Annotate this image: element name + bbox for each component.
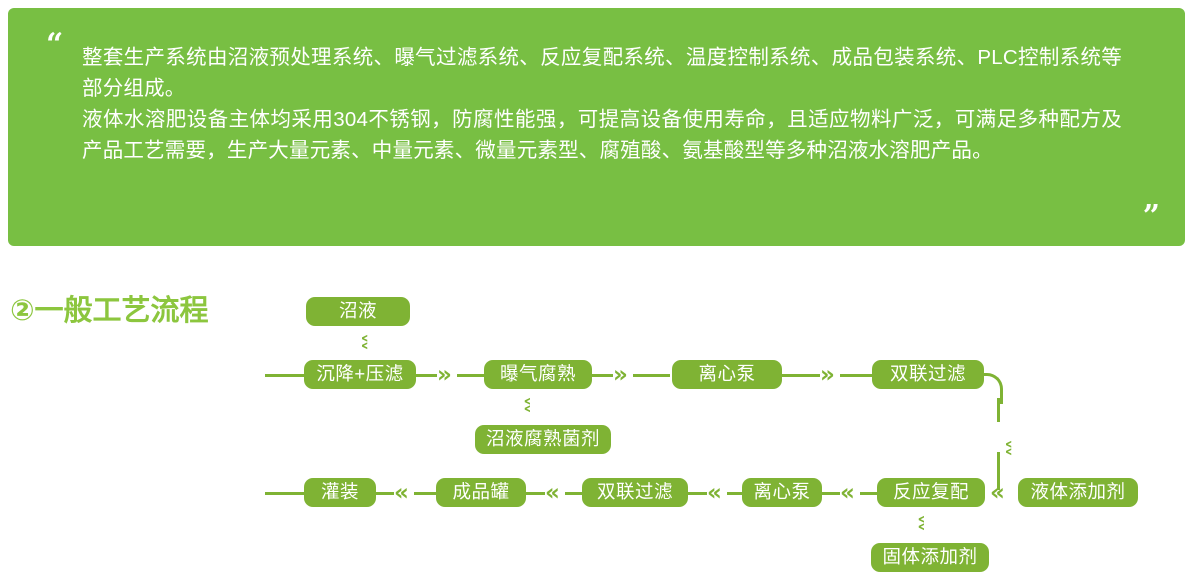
flow-line-r1-d <box>633 374 670 377</box>
flow-line-r2-c <box>526 492 545 495</box>
arrow-down-icon-slurry: ˅˅ <box>346 333 367 348</box>
flow-node-reaction-compounding[interactable]: 反应复配 <box>877 478 985 507</box>
arrow-down-icon-to-row2: ˅˅ <box>990 439 1011 454</box>
flow-node-centrifugal-pump-1[interactable]: 离心泵 <box>672 360 782 389</box>
flow-node-finished-tank[interactable]: 成品罐 <box>436 478 526 507</box>
arrow-right-icon-1: » <box>437 364 452 387</box>
process-flow-diagram: 沼液 ˅˅ 沉降+压滤 » 曝气腐熟 » 离心泵 » 双联过滤 ˄˄ 沼液腐熟菌… <box>0 0 1193 588</box>
flow-node-aeration-maturation[interactable]: 曝气腐熟 <box>484 360 592 389</box>
flow-line-r2-f <box>727 492 742 495</box>
flow-node-liquid-additive[interactable]: 液体添加剂 <box>1018 478 1138 507</box>
flow-node-solid-additive[interactable]: 固体添加剂 <box>871 543 989 572</box>
flow-node-duplex-filter-2[interactable]: 双联过滤 <box>582 478 688 507</box>
flow-node-slurry-maturation-agent[interactable]: 沼液腐熟菌剂 <box>475 425 611 454</box>
flow-node-settle-press[interactable]: 沉降+压滤 <box>304 360 416 389</box>
flow-node-centrifugal-pump-2[interactable]: 离心泵 <box>742 478 822 507</box>
flow-line-r1-c <box>592 374 613 377</box>
arrow-up-icon-maturation-agent: ˄˄ <box>525 399 546 414</box>
arrow-left-icon-3: « <box>707 482 722 505</box>
arrow-right-icon-3: » <box>820 364 835 387</box>
flow-node-filling[interactable]: 灌装 <box>304 478 376 507</box>
arrow-left-icon-2: « <box>545 482 560 505</box>
flow-node-biogas-slurry[interactable]: 沼液 <box>306 297 410 326</box>
flow-line-r1-f <box>840 374 872 377</box>
flow-line-vertical-upper <box>997 398 1000 422</box>
flow-line-r1-e <box>782 374 820 377</box>
arrow-right-icon-2: » <box>613 364 628 387</box>
flow-line-r2-h <box>860 492 877 495</box>
flow-line-row2-lead <box>265 492 304 495</box>
flow-line-r2-g <box>822 492 840 495</box>
flow-connector-corner <box>984 373 1003 404</box>
flow-line-r1-b <box>457 374 484 377</box>
arrow-left-icon-1: « <box>394 482 409 505</box>
flow-line-r2-a <box>376 492 394 495</box>
flow-line-row1-lead <box>265 374 308 377</box>
arrow-left-icon-5: « <box>990 482 1005 505</box>
arrow-left-icon-4: « <box>840 482 855 505</box>
flow-line-r2-d <box>565 492 582 495</box>
flow-line-r2-e <box>688 492 707 495</box>
flow-line-r1-a <box>416 374 437 377</box>
flow-node-duplex-filter-1[interactable]: 双联过滤 <box>872 360 984 389</box>
arrow-up-icon-solid-additive: ˄˄ <box>919 517 940 532</box>
flow-line-r2-b <box>414 492 436 495</box>
